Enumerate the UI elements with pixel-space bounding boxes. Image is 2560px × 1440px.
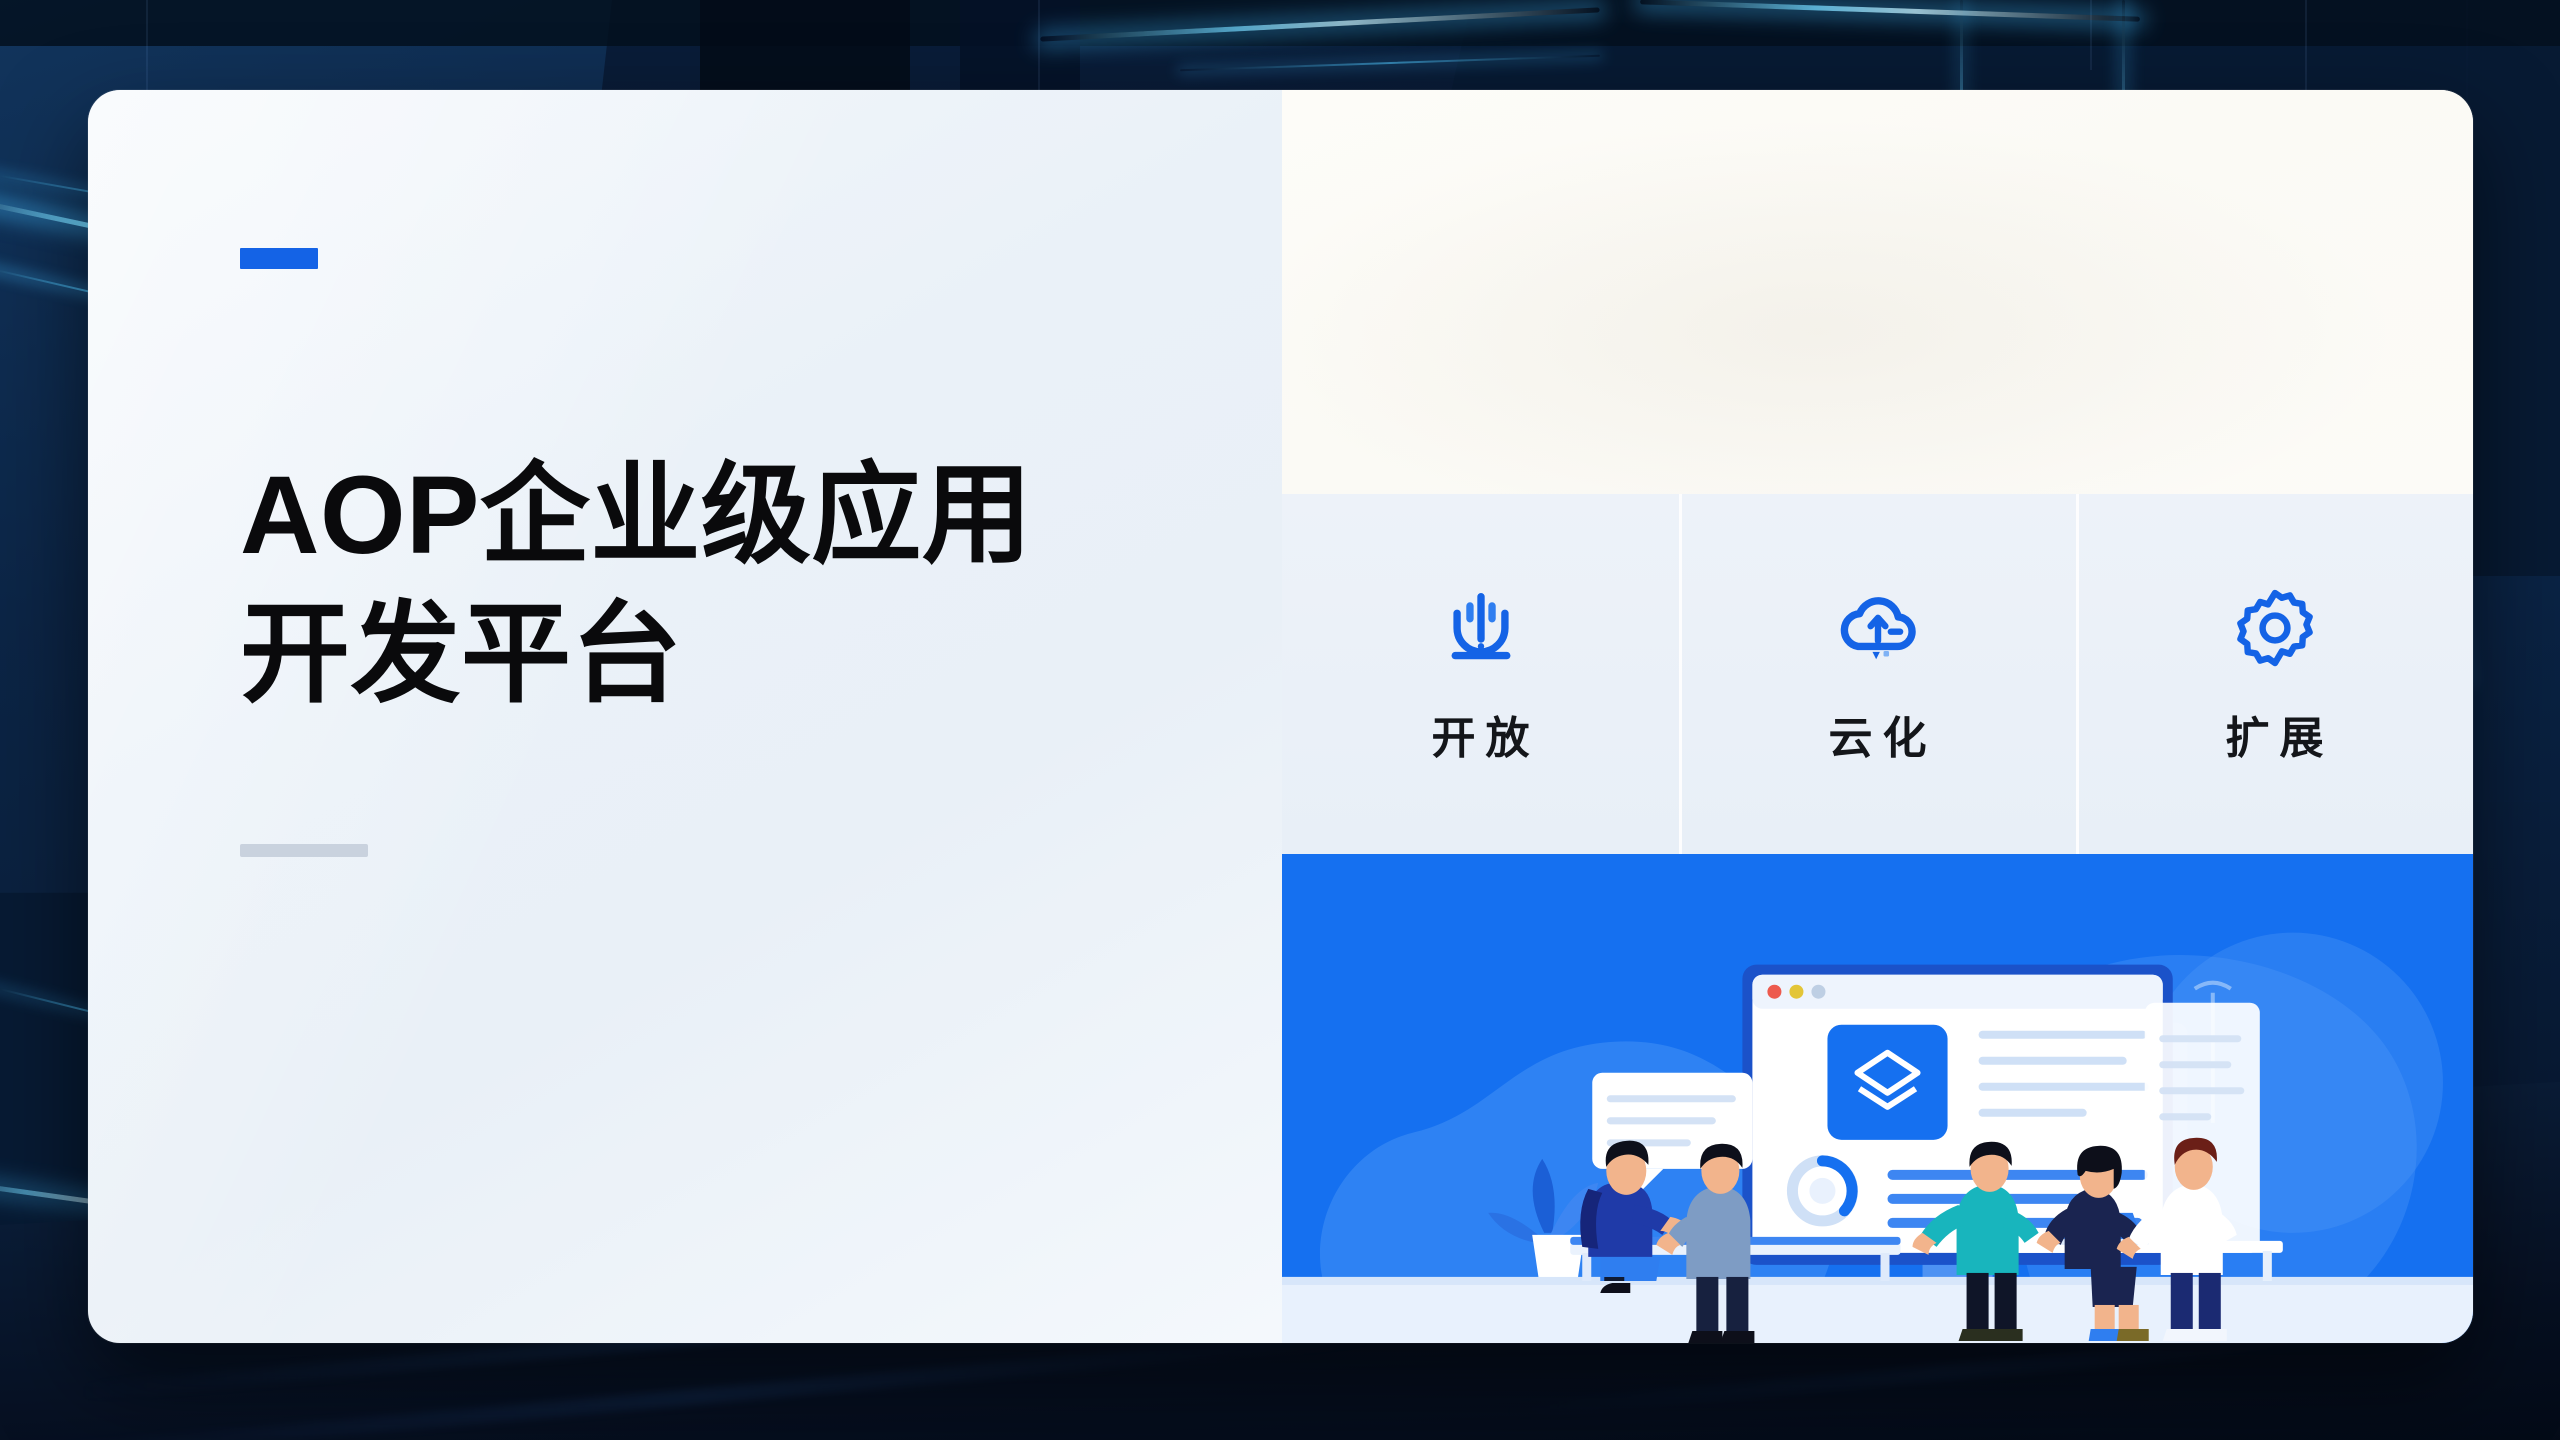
background-seam-2 bbox=[1038, 0, 1040, 92]
divider-bar bbox=[240, 844, 368, 857]
feature-label-open: 开放 bbox=[1422, 702, 1540, 766]
accent-bar bbox=[240, 248, 318, 269]
window-dot-gray bbox=[1811, 985, 1825, 999]
page-title: AOP企业级应用 开发平台 bbox=[240, 447, 1282, 724]
feature-item-open[interactable]: 开放 bbox=[1282, 494, 1679, 854]
feature-label-extend: 扩展 bbox=[2216, 702, 2334, 766]
background-top-band bbox=[0, 0, 2560, 46]
team-collaboration-illustration bbox=[1282, 854, 2473, 1343]
feature-item-cloud[interactable]: 云化 bbox=[1679, 494, 2076, 854]
page-title-line-1: AOP企业级应用 bbox=[240, 447, 1282, 586]
gear-icon bbox=[2229, 582, 2321, 674]
feature-item-extend[interactable]: 扩展 bbox=[2076, 494, 2473, 854]
top-blank-block bbox=[1282, 90, 2473, 494]
layers-icon-tile bbox=[1827, 1025, 1947, 1140]
ground-plane bbox=[1282, 1277, 2473, 1343]
illustration-svg bbox=[1282, 854, 2473, 1343]
window-dot-yellow bbox=[1789, 985, 1803, 999]
cloud-upload-icon bbox=[1832, 582, 1924, 674]
background-seam-1 bbox=[146, 0, 148, 96]
card-left-panel: AOP企业级应用 开发平台 bbox=[88, 90, 1282, 1343]
open-platform-icon bbox=[1435, 582, 1527, 674]
background-seam-5 bbox=[2090, 0, 2092, 70]
card-right-panel: 开放 云化 bbox=[1282, 90, 2473, 1343]
page-title-line-2: 开发平台 bbox=[240, 586, 1282, 725]
feature-row: 开放 云化 bbox=[1282, 494, 2473, 854]
window-dot-red bbox=[1767, 985, 1781, 999]
feature-label-cloud: 云化 bbox=[1819, 702, 1937, 766]
hero-card: AOP企业级应用 开发平台 开放 bbox=[88, 90, 2473, 1343]
